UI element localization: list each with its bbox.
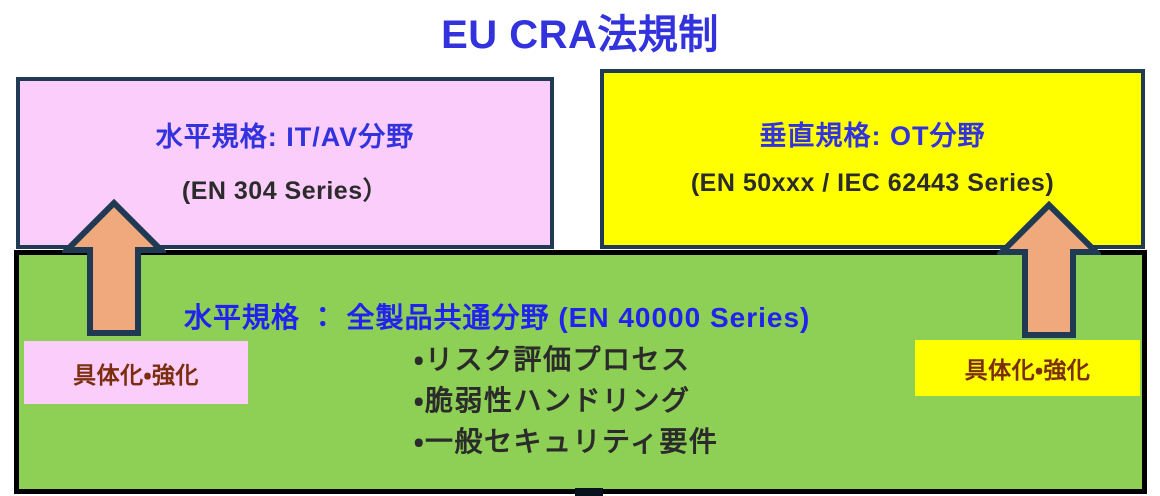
bottom-edge-notch <box>575 488 603 496</box>
up-arrow-icon-left <box>62 198 166 338</box>
page-title: EU CRA法規制 <box>0 2 1160 60</box>
yellow-panel-heading: 垂直規格: OT分野 <box>604 114 1141 153</box>
diagram-canvas: EU CRA法規制 水平規格: IT/AV分野 (EN 304 Series） … <box>0 0 1160 496</box>
green-panel-heading: 水平規格 ： 全製品共通分野 (EN 40000 Series) <box>184 296 810 336</box>
pink-panel-heading: 水平規格: IT/AV分野 <box>20 115 550 154</box>
list-item: ・リスク評価プロセス <box>414 339 718 380</box>
callout-label-right: 具体化・強化 <box>915 340 1140 396</box>
up-arrow-icon-right <box>997 200 1101 340</box>
list-item: ・一般セキュリティ要件 <box>414 421 718 462</box>
list-item: ・脆弱性ハンドリング <box>414 380 718 421</box>
green-panel-bullet-list: ・リスク評価プロセス ・脆弱性ハンドリング ・一般セキュリティ要件 <box>414 339 718 462</box>
callout-label-left: 具体化・強化 <box>24 341 248 404</box>
yellow-panel-subtitle: (EN 50xxx / IEC 62443 Series) <box>604 169 1141 198</box>
